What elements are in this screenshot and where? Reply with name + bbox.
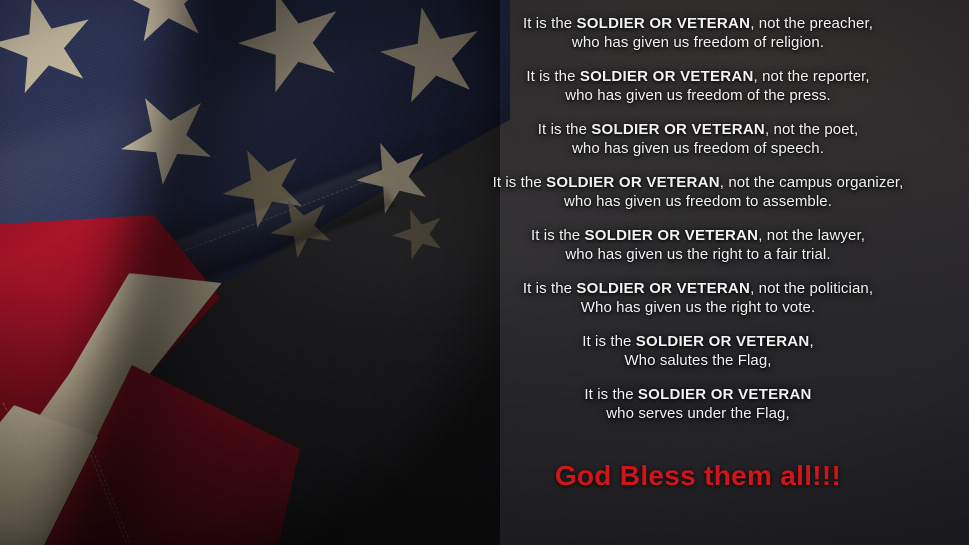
poem-line: It is the SOLDIER OR VETERAN, not the pr… bbox=[428, 14, 968, 33]
poem-line: It is the SOLDIER OR VETERAN, bbox=[428, 332, 968, 351]
poem-line: It is the SOLDIER OR VETERAN, not the re… bbox=[428, 67, 968, 86]
poem-tail: , not the politician, bbox=[750, 280, 873, 297]
poem-line: It is the SOLDIER OR VETERAN, not the la… bbox=[428, 226, 968, 245]
poem-line: Who salutes the Flag, bbox=[428, 351, 968, 370]
poem-subject: SOLDIER OR VETERAN bbox=[591, 121, 765, 138]
poem-line: who serves under the Flag, bbox=[428, 404, 968, 423]
poem-subject: SOLDIER OR VETERAN bbox=[576, 280, 750, 297]
poem-lead: It is the bbox=[582, 333, 636, 350]
poem-stanza: It is the SOLDIER OR VETERAN, not the po… bbox=[428, 120, 968, 158]
poem-lead: It is the bbox=[523, 15, 577, 32]
poem-lead: It is the bbox=[526, 68, 580, 85]
poem-lead: It is the bbox=[538, 121, 592, 138]
poem-subject: SOLDIER OR VETERAN bbox=[577, 15, 751, 32]
poem-stanza: It is the SOLDIER OR VETERAN, not the ca… bbox=[428, 173, 968, 211]
closing-blessing: God Bless them all!!! bbox=[428, 460, 968, 492]
poem-line: It is the SOLDIER OR VETERAN bbox=[428, 385, 968, 404]
poem-tail: , not the campus organizer, bbox=[720, 174, 904, 191]
poem-tail: , bbox=[809, 333, 813, 350]
poem-subject: SOLDIER OR VETERAN bbox=[585, 227, 759, 244]
poem-subject: SOLDIER OR VETERAN bbox=[638, 386, 812, 403]
poem-tail: , not the poet, bbox=[765, 121, 858, 138]
poem-line: who has given us the right to a fair tri… bbox=[428, 245, 968, 264]
poem-stanza: It is the SOLDIER OR VETERAN, not the po… bbox=[428, 279, 968, 317]
poem-lead: It is the bbox=[531, 227, 585, 244]
tribute-poster: It is the SOLDIER OR VETERAN, not the pr… bbox=[0, 0, 969, 545]
poem-tail: , not the preacher, bbox=[750, 15, 873, 32]
poem-line: who has given us freedom to assemble. bbox=[428, 192, 968, 211]
poem-line: It is the SOLDIER OR VETERAN, not the po… bbox=[428, 279, 968, 298]
poem-subject: SOLDIER OR VETERAN bbox=[546, 174, 720, 191]
poem-lead: It is the bbox=[584, 386, 638, 403]
poem-subject: SOLDIER OR VETERAN bbox=[636, 333, 810, 350]
poem-lead: It is the bbox=[523, 280, 577, 297]
poem-tail: , not the lawyer, bbox=[758, 227, 865, 244]
poem-stanza: It is the SOLDIER OR VETERAN, not the re… bbox=[428, 67, 968, 105]
poem-lead: It is the bbox=[493, 174, 547, 191]
poem-line: Who has given us the right to vote. bbox=[428, 298, 968, 317]
poem-stanza: It is the SOLDIER OR VETERAN, Who salute… bbox=[428, 332, 968, 370]
poem-line: It is the SOLDIER OR VETERAN, not the po… bbox=[428, 120, 968, 139]
poem-line: who has given us freedom of religion. bbox=[428, 33, 968, 52]
poem-stanza: It is the SOLDIER OR VETERAN, not the la… bbox=[428, 226, 968, 264]
poem-stanza: It is the SOLDIER OR VETERAN, not the pr… bbox=[428, 14, 968, 52]
poem-line: who has given us freedom of the press. bbox=[428, 86, 968, 105]
poem-text-block: It is the SOLDIER OR VETERAN, not the pr… bbox=[428, 14, 968, 438]
poem-line: It is the SOLDIER OR VETERAN, not the ca… bbox=[428, 173, 968, 192]
poem-tail: , not the reporter, bbox=[754, 68, 870, 85]
poem-stanza: It is the SOLDIER OR VETERAN who serves … bbox=[428, 385, 968, 423]
poem-subject: SOLDIER OR VETERAN bbox=[580, 68, 754, 85]
poem-line: who has given us freedom of speech. bbox=[428, 139, 968, 158]
